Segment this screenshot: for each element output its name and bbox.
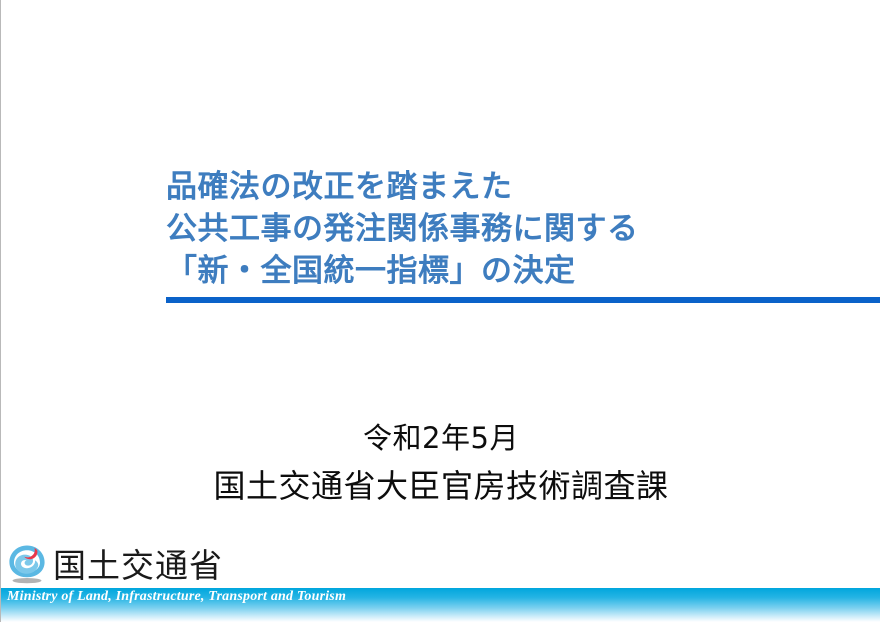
slide-subtitle-block: 令和2年5月 国土交通省大臣官房技術調査課 — [1, 418, 880, 508]
ministry-name-jp: 国土交通省 — [53, 549, 223, 582]
ministry-branding: 国土交通省 — [7, 542, 223, 586]
issuing-organization: 国土交通省大臣官房技術調査課 — [1, 464, 880, 508]
ministry-name-en: Ministry of Land, Infrastructure, Transp… — [7, 589, 346, 605]
title-underline-rule — [166, 297, 880, 303]
presentation-slide: 品確法の改正を踏まえた 公共工事の発注関係事務に関する 「新・全国統一指標」の決… — [0, 0, 880, 622]
title-line-2: 公共工事の発注関係事務に関する — [166, 208, 866, 250]
title-line-1: 品確法の改正を踏まえた — [166, 166, 866, 208]
publication-date: 令和2年5月 — [1, 418, 880, 458]
slide-title: 品確法の改正を踏まえた 公共工事の発注関係事務に関する 「新・全国統一指標」の決… — [166, 166, 866, 292]
footer-gradient-bar: Ministry of Land, Infrastructure, Transp… — [1, 588, 880, 622]
mlit-swirl-logo-icon — [7, 543, 47, 585]
title-line-3: 「新・全国統一指標」の決定 — [166, 250, 866, 292]
